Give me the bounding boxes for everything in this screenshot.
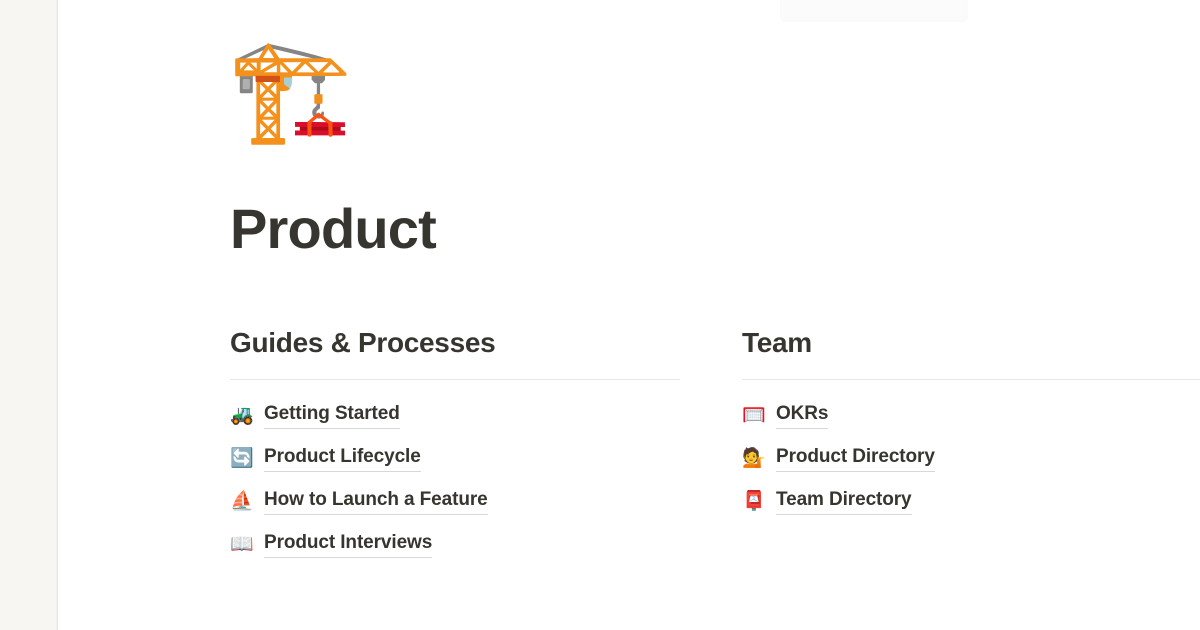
list-item[interactable]: 📖 Product Interviews bbox=[230, 523, 680, 566]
section-heading-guides-and-processes: Guides & Processes bbox=[230, 325, 680, 360]
section-heading-team: Team bbox=[742, 325, 1200, 360]
page-title: Product bbox=[230, 198, 436, 260]
tractor-icon: 🚜 bbox=[230, 406, 254, 425]
link-list-team: 🥅 OKRs 💁 Product Directory 📮 Team Direct… bbox=[742, 394, 1200, 523]
link-sections-columns: Guides & Processes 🚜 Getting Started 🔄 P… bbox=[230, 325, 1200, 566]
link-how-to-launch-a-feature[interactable]: How to Launch a Feature bbox=[264, 488, 488, 515]
app-window: 🏗️ Product Guides & Processes 🚜 Getting … bbox=[0, 0, 1200, 630]
list-item[interactable]: 🔄 Product Lifecycle bbox=[230, 437, 680, 480]
list-item[interactable]: 🥅 OKRs bbox=[742, 394, 1200, 437]
page-icon[interactable]: 🏗️ bbox=[228, 40, 353, 140]
top-toolbar-pill[interactable] bbox=[780, 0, 968, 22]
section-divider bbox=[742, 379, 1200, 380]
open-book-icon: 📖 bbox=[230, 535, 254, 554]
sidebar-rail[interactable] bbox=[0, 0, 58, 630]
link-product-lifecycle[interactable]: Product Lifecycle bbox=[264, 445, 421, 472]
link-list-guides-and-processes: 🚜 Getting Started 🔄 Product Lifecycle ⛵ … bbox=[230, 394, 680, 566]
link-team-directory[interactable]: Team Directory bbox=[776, 488, 912, 515]
link-product-interviews[interactable]: Product Interviews bbox=[264, 531, 432, 558]
arrows-counterclockwise-icon: 🔄 bbox=[230, 449, 254, 468]
link-getting-started[interactable]: Getting Started bbox=[264, 402, 400, 429]
person-tipping-hand-icon: 💁 bbox=[742, 449, 766, 468]
section-divider bbox=[230, 379, 680, 380]
sailboat-icon: ⛵ bbox=[230, 492, 254, 511]
section-guides-and-processes: Guides & Processes 🚜 Getting Started 🔄 P… bbox=[230, 325, 680, 566]
link-product-directory[interactable]: Product Directory bbox=[776, 445, 935, 472]
postbox-icon: 📮 bbox=[742, 492, 766, 511]
list-item[interactable]: ⛵ How to Launch a Feature bbox=[230, 480, 680, 523]
page-content-area: 🏗️ Product Guides & Processes 🚜 Getting … bbox=[58, 0, 1200, 630]
section-team: Team 🥅 OKRs 💁 Product Directory 📮 bbox=[742, 325, 1200, 566]
list-item[interactable]: 📮 Team Directory bbox=[742, 480, 1200, 523]
list-item[interactable]: 🚜 Getting Started bbox=[230, 394, 680, 437]
goal-net-icon: 🥅 bbox=[742, 406, 766, 425]
list-item[interactable]: 💁 Product Directory bbox=[742, 437, 1200, 480]
link-okrs[interactable]: OKRs bbox=[776, 402, 828, 429]
